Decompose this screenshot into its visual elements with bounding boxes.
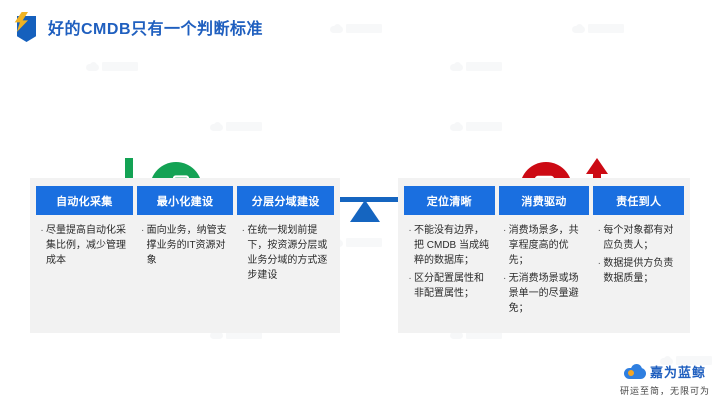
bullet-item: ·数据提供方负责数据质量； xyxy=(595,256,680,286)
bullet-text: 面向业务，纳管支撑业务的IT资源对象 xyxy=(147,223,230,268)
footer-branding: 嘉为蓝鲸 研运至简，无限可为 xyxy=(620,362,710,397)
watermark-text: 嘉为蓝鲸 xyxy=(588,24,624,33)
slide-canvas: 嘉为蓝鲸嘉为蓝鲸嘉为蓝鲸嘉为蓝鲸嘉为蓝鲸嘉为蓝鲸嘉为蓝鲸嘉为蓝鲸嘉为蓝鲸嘉为蓝鲸… xyxy=(0,0,720,405)
bullet-text: 消费场景多，共享程度高的优先； xyxy=(509,223,586,268)
watermark-text: 嘉为蓝鲸 xyxy=(346,238,382,247)
bullet-dot-icon: · xyxy=(501,271,509,316)
panel-benefit-criteria: 定位清晰·不能没有边界，把 CMDB 当成纯粹的数据库；·区分配置属性和非配置属… xyxy=(398,178,690,333)
bullet-item: ·区分配置属性和非配置属性； xyxy=(406,271,491,301)
triangle-fulcrum-icon xyxy=(350,200,380,222)
cloud-watermark-icon xyxy=(86,62,99,71)
bullet-text: 不能没有边界，把 CMDB 当成纯粹的数据库； xyxy=(414,223,491,268)
criteria-column-body: ·在统一规划前提下，按资源分层或业务分域的方式逐步建设 xyxy=(237,215,334,327)
criteria-column-header[interactable]: 自动化采集 xyxy=(36,186,133,215)
bullet-dot-icon: · xyxy=(139,223,147,268)
jiawei-bolt-logo-icon xyxy=(14,12,38,42)
criteria-column-body: ·消费场景多，共享程度高的优先；·无消费场景或场景单一的尽量避免； xyxy=(499,215,590,327)
footer-tagline: 研运至简，无限可为 xyxy=(620,384,710,397)
criteria-column: 最小化建设·面向业务，纳管支撑业务的IT资源对象 xyxy=(137,186,234,327)
watermark-text: 嘉为蓝鲸 xyxy=(466,62,502,71)
criteria-column-body: ·尽量提高自动化采集比例，减少管理成本 xyxy=(36,215,133,327)
bullet-text: 区分配置属性和非配置属性； xyxy=(414,271,491,301)
panel-cost-criteria: 自动化采集·尽量提高自动化采集比例，减少管理成本最小化建设·面向业务，纳管支撑业… xyxy=(30,178,340,333)
bullet-text: 尽量提高自动化采集比例，减少管理成本 xyxy=(46,223,129,268)
criteria-column-header[interactable]: 责任到人 xyxy=(593,186,684,215)
criteria-column: 消费驱动·消费场景多，共享程度高的优先；·无消费场景或场景单一的尽量避免； xyxy=(499,186,590,327)
bullet-text: 数据提供方负责数据质量； xyxy=(603,256,680,286)
criteria-column: 自动化采集·尽量提高自动化采集比例，减少管理成本 xyxy=(36,186,133,327)
criteria-column: 定位清晰·不能没有边界，把 CMDB 当成纯粹的数据库；·区分配置属性和非配置属… xyxy=(404,186,495,327)
bullet-dot-icon: · xyxy=(595,256,603,286)
criteria-column-body: ·每个对象都有对应负责人；·数据提供方负责数据质量； xyxy=(593,215,684,327)
cloud-watermark-icon xyxy=(572,24,585,33)
criteria-column: 责任到人·每个对象都有对应负责人；·数据提供方负责数据质量； xyxy=(593,186,684,327)
watermark: 嘉为蓝鲸 xyxy=(450,62,502,71)
criteria-column-header[interactable]: 定位清晰 xyxy=(404,186,495,215)
bullet-dot-icon: · xyxy=(595,223,603,253)
bullet-item: ·面向业务，纳管支撑业务的IT资源对象 xyxy=(139,223,230,268)
bullet-dot-icon: · xyxy=(38,223,46,268)
bullet-item: ·每个对象都有对应负责人； xyxy=(595,223,680,253)
bullet-item: ·不能没有边界，把 CMDB 当成纯粹的数据库； xyxy=(406,223,491,268)
cloud-watermark-icon xyxy=(330,24,343,33)
criteria-column-header[interactable]: 消费驱动 xyxy=(499,186,590,215)
bullet-dot-icon: · xyxy=(501,223,509,268)
bullet-item: ·消费场景多，共享程度高的优先； xyxy=(501,223,586,268)
bullet-text: 每个对象都有对应负责人； xyxy=(603,223,680,253)
bullet-dot-icon: · xyxy=(406,223,414,268)
watermark: 嘉为蓝鲸 xyxy=(330,24,382,33)
footer-brand-name: 嘉为蓝鲸 xyxy=(650,362,706,381)
bullet-text: 无消费场景或场景单一的尽量避免； xyxy=(509,271,586,316)
watermark: 嘉为蓝鲸 xyxy=(572,24,624,33)
bullet-item: ·无消费场景或场景单一的尽量避免； xyxy=(501,271,586,316)
balance-diagram: 成本 收益 xyxy=(0,72,720,172)
bullet-item: ·尽量提高自动化采集比例，减少管理成本 xyxy=(38,223,129,268)
criteria-column-header[interactable]: 最小化建设 xyxy=(137,186,234,215)
bullet-item: ·在统一规划前提下，按资源分层或业务分域的方式逐步建设 xyxy=(239,223,330,283)
watermark-text: 嘉为蓝鲸 xyxy=(102,62,138,71)
watermark: 嘉为蓝鲸 xyxy=(86,62,138,71)
criteria-column-body: ·不能没有边界，把 CMDB 当成纯粹的数据库；·区分配置属性和非配置属性； xyxy=(404,215,495,327)
page-title: 好的CMDB只有一个判断标准 xyxy=(48,15,263,39)
slide-header: 好的CMDB只有一个判断标准 xyxy=(14,12,263,42)
watermark-text: 嘉为蓝鲸 xyxy=(346,24,382,33)
criteria-column-body: ·面向业务，纳管支撑业务的IT资源对象 xyxy=(137,215,234,327)
cloud-logo-icon xyxy=(624,364,646,379)
bullet-text: 在统一规划前提下，按资源分层或业务分域的方式逐步建设 xyxy=(247,223,330,283)
criteria-column: 分层分域建设·在统一规划前提下，按资源分层或业务分域的方式逐步建设 xyxy=(237,186,334,327)
cloud-watermark-icon xyxy=(450,62,463,71)
bullet-dot-icon: · xyxy=(406,271,414,301)
criteria-column-header[interactable]: 分层分域建设 xyxy=(237,186,334,215)
bullet-dot-icon: · xyxy=(239,223,247,283)
